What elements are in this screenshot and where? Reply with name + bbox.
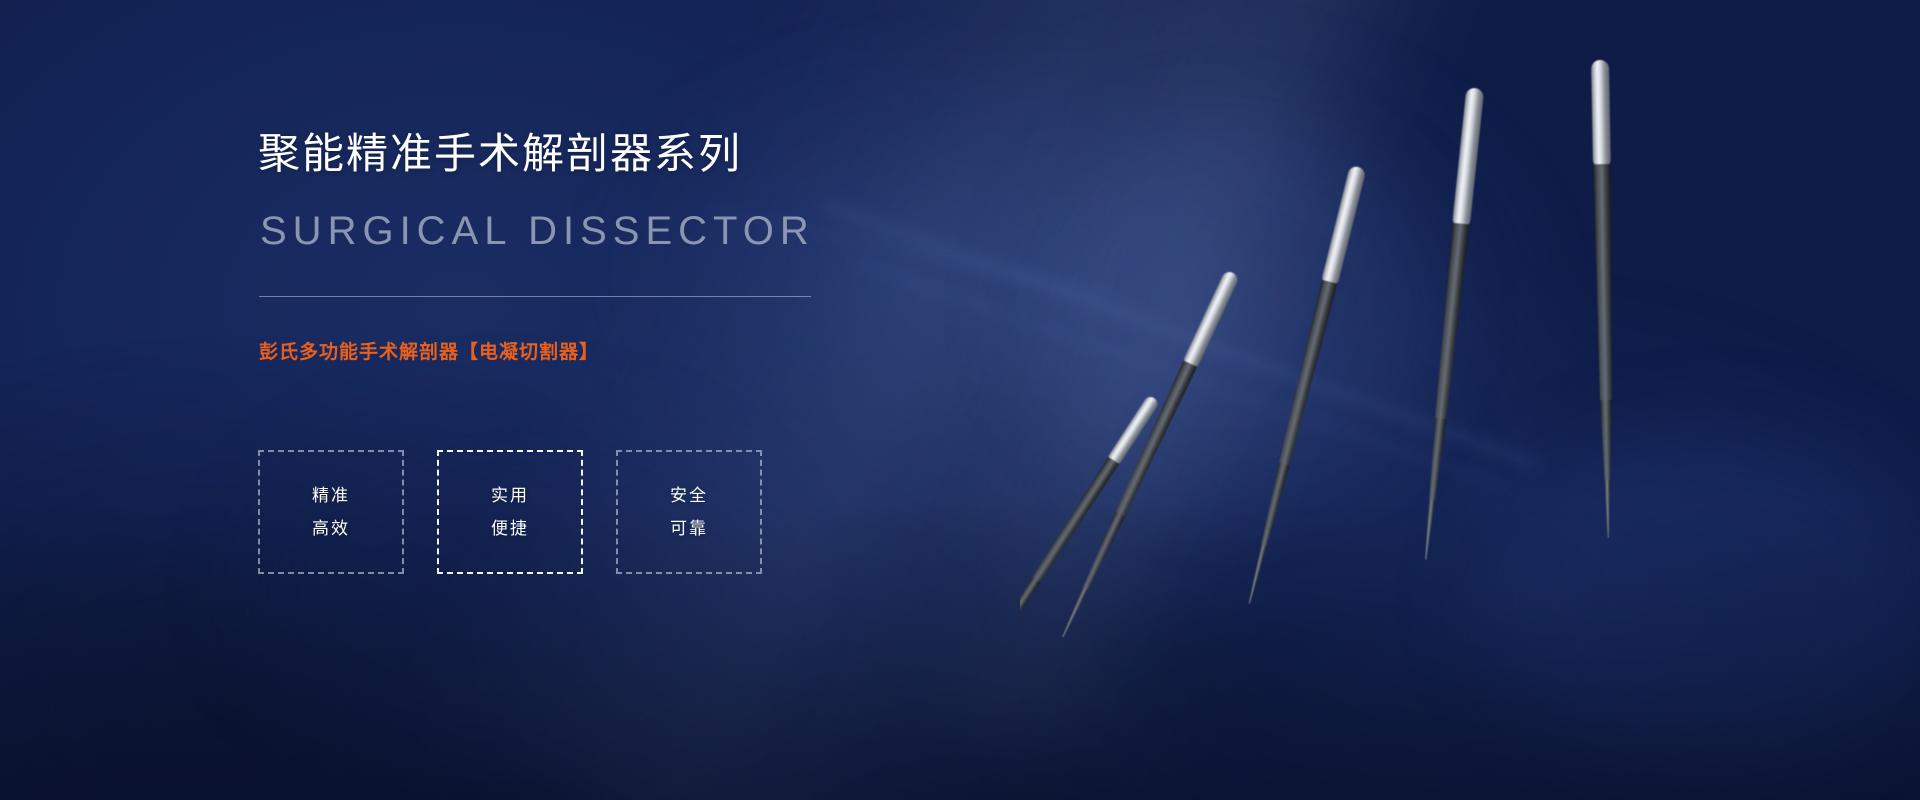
feature-line: 实用	[491, 483, 529, 508]
feature-box-precision: 精准 高效	[258, 450, 404, 574]
feature-line: 便捷	[491, 516, 529, 541]
hero-banner: 聚能精准手术解剖器系列 SURGICAL DISSECTOR 彭氏多功能手术解剖…	[0, 0, 1920, 800]
feature-line: 精准	[312, 483, 350, 508]
page-subtitle-english: SURGICAL DISSECTOR	[260, 205, 815, 257]
surgical-instrument-artwork	[1020, 0, 1920, 800]
feature-line: 安全	[670, 483, 708, 508]
feature-line: 高效	[312, 516, 350, 541]
feature-box-safety: 安全 可靠	[616, 450, 762, 574]
banner-text-column: 聚能精准手术解剖器系列 SURGICAL DISSECTOR 彭氏多功能手术解剖…	[258, 0, 978, 800]
product-name-label: 彭氏多功能手术解剖器【电凝切割器】	[259, 339, 599, 367]
page-title: 聚能精准手术解剖器系列	[258, 126, 742, 182]
feature-line: 可靠	[670, 516, 708, 541]
feature-box-practical: 实用 便捷	[437, 450, 583, 574]
feature-box-group: 精准 高效 实用 便捷 安全 可靠	[258, 450, 762, 574]
title-divider	[259, 296, 811, 297]
